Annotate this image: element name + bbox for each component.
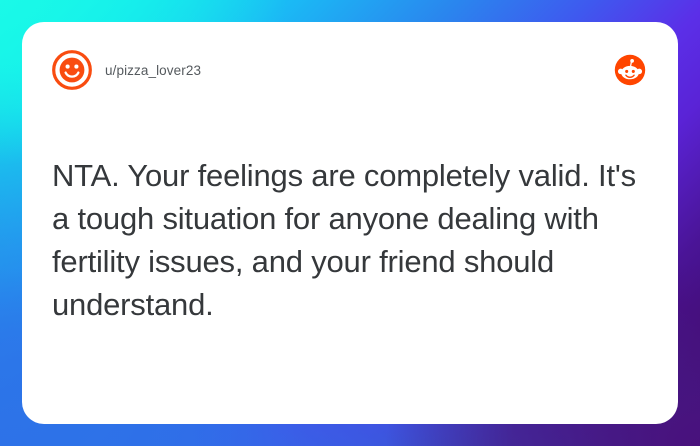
card-header: u/pizza_lover23 <box>52 48 648 92</box>
reddit-snoo-icon[interactable] <box>614 54 646 86</box>
smiley-face-avatar-icon <box>52 50 92 90</box>
author-block[interactable]: u/pizza_lover23 <box>52 50 201 90</box>
comment-text: NTA. Your feelings are completely valid.… <box>52 154 648 326</box>
reddit-comment-card: u/pizza_lover23 NTA. Your feelings are c… <box>22 22 678 424</box>
author-username: u/pizza_lover23 <box>105 63 201 78</box>
card-body: NTA. Your feelings are completely valid.… <box>52 92 648 398</box>
